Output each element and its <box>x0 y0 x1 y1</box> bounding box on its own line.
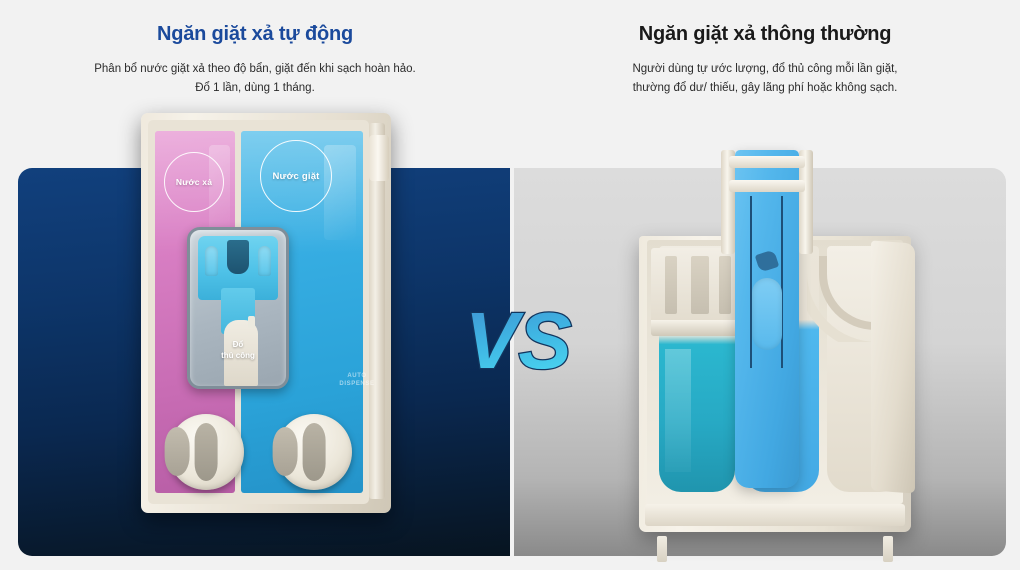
cap-slot <box>195 423 218 481</box>
left-subtitle-line-2: Đổ 1 lần, dùng 1 tháng. <box>0 79 510 98</box>
comparison-stage: Ngăn giặt xả tự động Phân bổ nước giặt x… <box>0 0 1020 570</box>
shelf-fin <box>691 256 709 314</box>
softener-cap <box>168 414 244 490</box>
divider-oval <box>752 278 782 350</box>
pour-cap <box>248 316 255 328</box>
auto-dispense-line-1: AUTO <box>328 373 386 381</box>
drawer-handle-frame <box>721 150 813 254</box>
manual-pour-label: Đổ thủ công <box>190 340 286 362</box>
auto-dispense-watermark: AUTO DISPENSE <box>328 373 386 388</box>
handle-bar-bottom <box>729 180 805 192</box>
conventional-drawer-image <box>625 150 925 532</box>
chamber-highlight <box>324 145 356 239</box>
auto-dispense-mechanism: Đổ thủ công <box>187 227 289 389</box>
shelf-fin <box>665 256 677 314</box>
left-column-header: Ngăn giặt xả tự động Phân bổ nước giặt x… <box>0 22 510 98</box>
drawer-right-wing <box>871 240 915 493</box>
drawer-tab-right <box>883 536 893 562</box>
softener-label-circle: Nước xả <box>164 152 224 212</box>
shelf-fin <box>719 256 731 314</box>
right-title: Ngăn giặt xả thông thường <box>510 22 1020 46</box>
manual-pour-line-1: Đổ <box>190 340 286 351</box>
drawer-side-tab <box>369 135 389 181</box>
scoop-shelf <box>651 248 743 336</box>
right-subtitle-line-2: thường đổ dư/ thiếu, gây lãng phí hoặc k… <box>510 79 1020 98</box>
detergent-cap <box>276 414 352 490</box>
drawer-tab-left <box>657 536 667 562</box>
mechanism-core <box>227 240 249 274</box>
left-subtitle-line-1: Phân bổ nước giặt xả theo độ bẩn, giặt đ… <box>0 60 510 79</box>
right-column-header: Ngăn giặt xả thông thường Người dùng tự … <box>510 22 1020 98</box>
shelf-lip <box>651 320 743 336</box>
liquid-sheen <box>665 349 691 472</box>
right-subtitle-line-1: Người dùng tự ước lượng, đổ thủ công mỗi… <box>510 60 1020 79</box>
detergent-label-circle: Nước giặt <box>260 140 332 212</box>
auto-dispense-line-2: DISPENSE <box>328 381 386 389</box>
cap-slot <box>303 423 326 481</box>
drawer-front-lip <box>645 504 905 526</box>
manual-pour-line-2: thủ công <box>190 351 286 362</box>
left-subtitle: Phân bổ nước giặt xả theo độ bẩn, giặt đ… <box>0 60 510 98</box>
right-subtitle: Người dùng tự ước lượng, đổ thủ công mỗi… <box>510 60 1020 98</box>
left-title: Ngăn giặt xả tự động <box>0 22 510 46</box>
handle-bar-top <box>729 156 805 168</box>
